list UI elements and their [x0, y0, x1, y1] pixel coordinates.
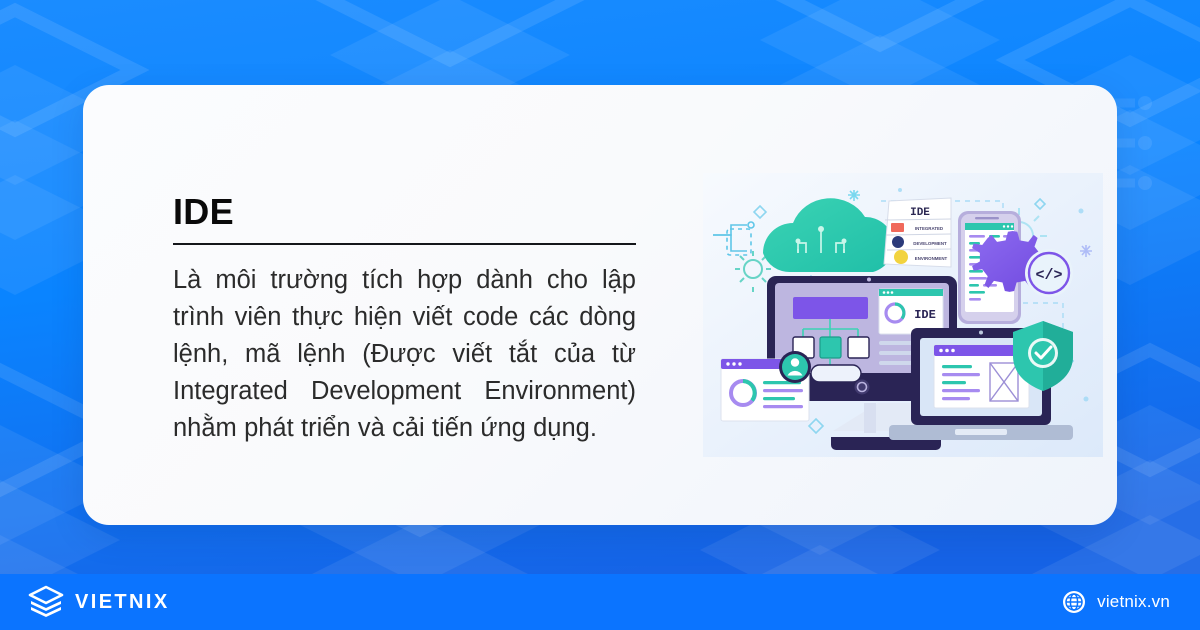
- ide-illustration: IDE INTEGRATED DEVELOPMENT ENVIRONMENT: [703, 173, 1103, 457]
- globe-icon: [1062, 590, 1086, 614]
- ide-banner: IDE INTEGRATED DEVELOPMENT ENVIRONMENT: [884, 198, 951, 267]
- site-url: vietnix.vn: [1097, 592, 1170, 612]
- banner-row-2: ENVIRONMENT: [915, 256, 948, 261]
- user-avatar-icon: [779, 351, 811, 383]
- site-link[interactable]: vietnix.vn: [1062, 590, 1170, 614]
- gear-code-glyph: </>: [1035, 267, 1062, 284]
- page-title: IDE: [173, 193, 636, 231]
- title-divider: [173, 243, 636, 245]
- banner-row-1: DEVELOPMENT: [913, 241, 947, 246]
- monitor-panel-label: IDE: [914, 308, 936, 322]
- banner-heading: IDE: [910, 207, 930, 219]
- definition-paragraph: Là môi trường tích hợp dành cho lập trìn…: [173, 262, 636, 447]
- footer-bar: VIETNIX vietnix.vn: [0, 574, 1200, 630]
- text-column: IDE Là môi trường tích hợp dành cho lập …: [173, 193, 636, 447]
- poster-canvas: IDE Là môi trường tích hợp dành cho lập …: [0, 0, 1200, 630]
- content-card: IDE Là môi trường tích hợp dành cho lập …: [83, 85, 1117, 525]
- stacked-layers-icon: [28, 585, 64, 619]
- banner-row-0: INTEGRATED: [915, 226, 943, 231]
- brand-name: VIETNIX: [75, 591, 170, 614]
- brand-lockup[interactable]: VIETNIX: [28, 585, 170, 619]
